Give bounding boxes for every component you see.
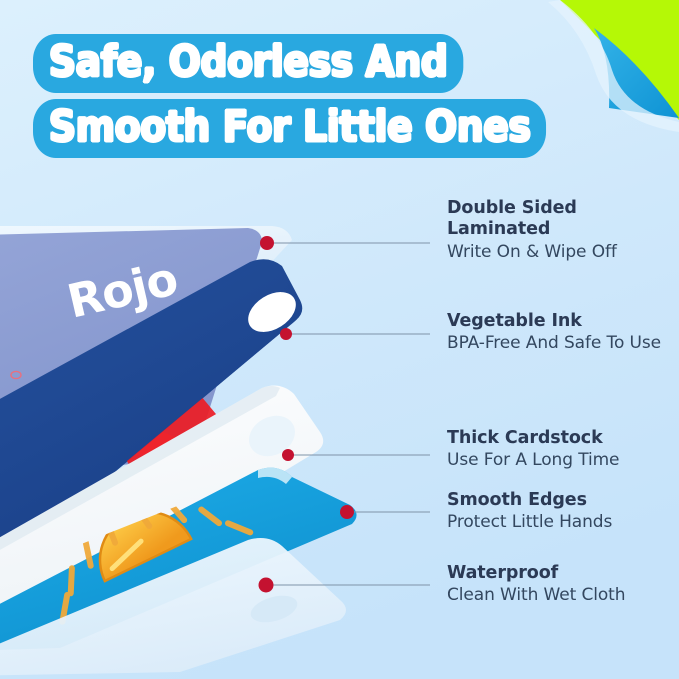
annotation-subtitle: BPA-Free And Safe To Use <box>447 333 679 354</box>
annotation-title-line1: Waterproof <box>447 563 679 584</box>
product-infographic: Rojo <box>0 0 679 679</box>
annotation-vegetable-ink: Vegetable Ink BPA-Free And Safe To Use <box>447 311 679 355</box>
annotation-title-line2: Laminated <box>447 219 679 240</box>
callout-dot-double-sided <box>260 236 274 250</box>
headline-row-2: Smooth For Little Ones <box>33 99 633 158</box>
headline-line-2: Smooth For Little Ones <box>33 99 546 158</box>
annotation-title-line1: Smooth Edges <box>447 490 679 511</box>
annotation-smooth-edges: Smooth Edges Protect Little Hands <box>447 490 679 534</box>
annotation-subtitle: Clean With Wet Cloth <box>447 585 679 606</box>
headline-row-1: Safe, Odorless And <box>33 34 633 93</box>
callout-dot-thick-cardstock <box>282 449 294 461</box>
annotation-title-line1: Vegetable Ink <box>447 311 679 332</box>
annotation-subtitle: Protect Little Hands <box>447 512 679 533</box>
annotation-thick-cardstock: Thick Cardstock Use For A Long Time <box>447 428 679 472</box>
annotation-waterproof: Waterproof Clean With Wet Cloth <box>447 563 679 607</box>
callout-dot-vegetable-ink <box>280 328 292 340</box>
annotation-subtitle: Use For A Long Time <box>447 450 679 471</box>
page-title: Safe, Odorless And Smooth For Little One… <box>33 34 633 164</box>
annotation-title-line1: Thick Cardstock <box>447 428 679 449</box>
headline-line-1: Safe, Odorless And <box>33 34 463 93</box>
callout-dot-smooth-edges <box>340 505 354 519</box>
annotation-subtitle: Write On & Wipe Off <box>447 242 679 263</box>
annotation-double-sided-laminated: Double Sided Laminated Write On & Wipe O… <box>447 198 679 263</box>
callout-dot-waterproof <box>259 578 274 593</box>
annotation-title-line1: Double Sided <box>447 198 679 219</box>
